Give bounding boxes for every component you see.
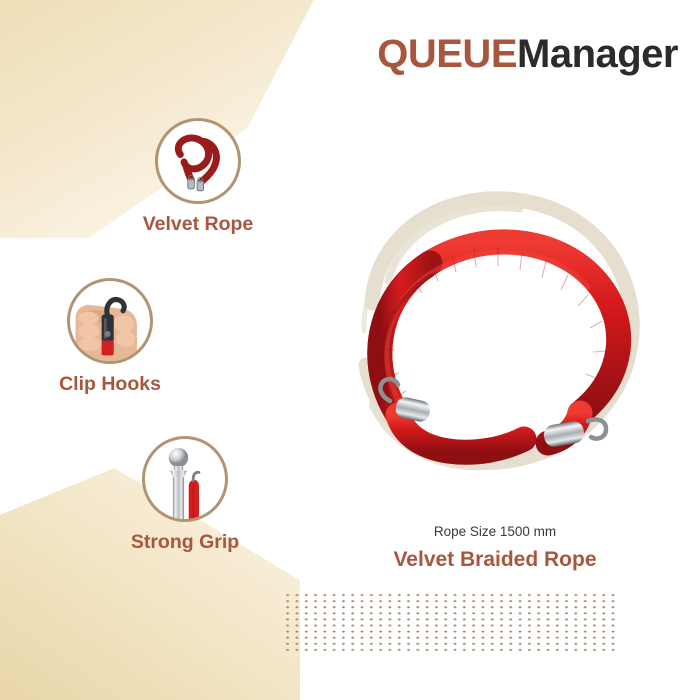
brand-title-dark: Manager xyxy=(517,32,678,76)
header: QUEUEManager xyxy=(377,34,678,74)
brand-title: QUEUEManager xyxy=(377,34,678,74)
red-velvet-braided-rope-photo xyxy=(348,201,644,471)
feature-label-clip-hooks: Clip Hooks xyxy=(20,373,200,396)
feature-label-velvet-rope: Velvet Rope xyxy=(108,213,288,236)
feature-badge-clip-hooks xyxy=(67,278,153,364)
dot-grid-decoration xyxy=(283,592,617,652)
product-name-caption: Velvet Braided Rope xyxy=(340,548,650,572)
clip-hook-in-hand-icon xyxy=(70,281,150,361)
feature-badge-velvet-rope xyxy=(155,118,241,204)
brand-title-accent: QUEUE xyxy=(377,32,517,76)
feature-velvet-rope: Velvet Rope xyxy=(108,118,288,236)
feature-strong-grip: Strong Grip xyxy=(95,436,275,554)
feature-badge-strong-grip xyxy=(142,436,228,522)
rope-size-caption: Rope Size 1500 mm xyxy=(340,524,650,540)
product-image-stage xyxy=(340,185,650,485)
stanchion-post-icon xyxy=(145,439,225,519)
product-caption-block: Rope Size 1500 mm Velvet Braided Rope xyxy=(340,524,650,572)
product-infographic: QUEUEManager xyxy=(0,0,700,700)
velvet-rope-icon xyxy=(158,121,238,201)
feature-clip-hooks: Clip Hooks xyxy=(20,278,200,396)
feature-label-strong-grip: Strong Grip xyxy=(95,531,275,554)
